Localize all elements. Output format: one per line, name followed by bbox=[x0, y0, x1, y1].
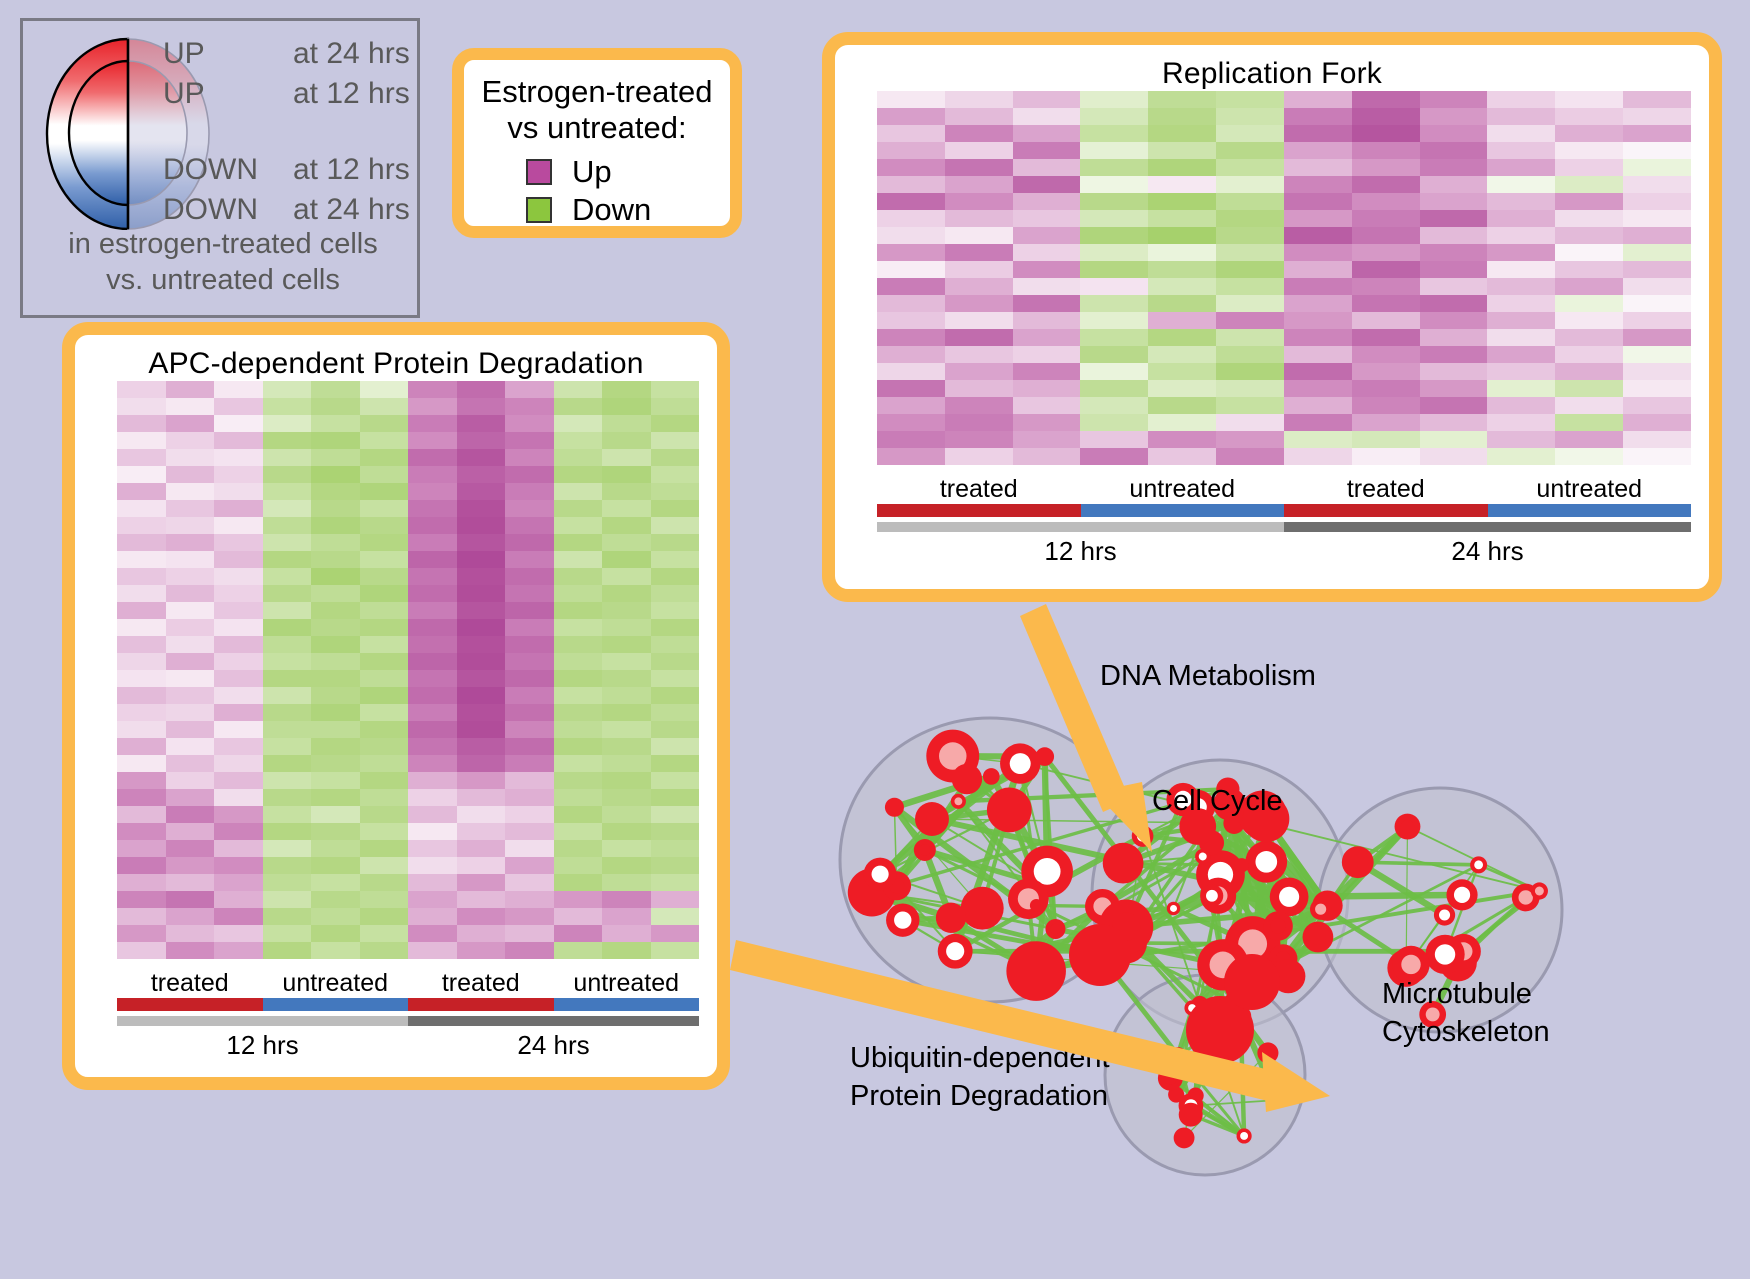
heatmap-cell bbox=[1352, 431, 1420, 448]
heatmap-cell bbox=[1216, 227, 1284, 244]
heatmap-cell bbox=[408, 772, 457, 789]
heatmap-cell bbox=[263, 670, 312, 687]
heatmap-cell bbox=[457, 942, 506, 959]
heatmap-cell bbox=[457, 704, 506, 721]
heatmap-cell bbox=[1216, 397, 1284, 414]
network-node[interactable] bbox=[1006, 941, 1066, 1001]
heatmap-cell bbox=[1013, 363, 1081, 380]
heatmap-cell bbox=[1623, 142, 1691, 159]
network-node-core[interactable] bbox=[1435, 944, 1455, 964]
network-node[interactable] bbox=[1224, 954, 1280, 1010]
heatmap-cell bbox=[1216, 193, 1284, 210]
heatmap-cell bbox=[1284, 295, 1352, 312]
network-node-core[interactable] bbox=[1206, 890, 1218, 902]
heatmap-cell bbox=[1555, 159, 1623, 176]
heatmap-cell bbox=[877, 108, 945, 125]
heatmap-cell bbox=[311, 806, 360, 823]
heatmap-cell bbox=[651, 738, 700, 755]
ring-row-up-24: UP at 24 hrs bbox=[163, 37, 410, 77]
heatmap-cell bbox=[1623, 312, 1691, 329]
heatmap-cell bbox=[263, 602, 312, 619]
heatmap-cell bbox=[1487, 261, 1555, 278]
heatmap-cell bbox=[554, 415, 603, 432]
heatmap-cell bbox=[945, 193, 1013, 210]
heatmap-cell bbox=[1420, 244, 1488, 261]
heatmap-cell bbox=[554, 432, 603, 449]
heatmap-cell bbox=[1352, 244, 1420, 261]
heatmap-cell bbox=[945, 261, 1013, 278]
heatmap-row bbox=[877, 261, 1691, 278]
heatmap-cell bbox=[166, 466, 215, 483]
heatmap-row bbox=[877, 125, 1691, 142]
heatmap-cell bbox=[877, 278, 945, 295]
network-node-core[interactable] bbox=[1137, 830, 1148, 841]
heatmap-cell bbox=[166, 721, 215, 738]
network-svg bbox=[800, 610, 1750, 1279]
heatmap-cell bbox=[408, 619, 457, 636]
heatmap-cell bbox=[1013, 108, 1081, 125]
heatmap-cell bbox=[1420, 108, 1488, 125]
heatmap-row bbox=[117, 551, 699, 568]
heatmap-cell bbox=[877, 397, 945, 414]
heatmap-cell bbox=[651, 789, 700, 806]
heatmap-cell bbox=[360, 449, 409, 466]
heatmap-row bbox=[117, 721, 699, 738]
heatmap-cell bbox=[1623, 261, 1691, 278]
heatmap-cell bbox=[554, 466, 603, 483]
heatmap-cell bbox=[505, 398, 554, 415]
network-node-core[interactable] bbox=[946, 942, 964, 960]
heatmap-cell bbox=[214, 500, 263, 517]
heatmap-cell bbox=[166, 738, 215, 755]
network-node-core[interactable] bbox=[1255, 851, 1277, 873]
heatmap-cell bbox=[311, 602, 360, 619]
heatmap-cell bbox=[602, 534, 651, 551]
heatmap-cell bbox=[1284, 397, 1352, 414]
heatmap-cell bbox=[1080, 125, 1148, 142]
network-node[interactable] bbox=[1174, 1127, 1195, 1148]
heatmap-cell bbox=[1080, 380, 1148, 397]
heatmap-cell bbox=[263, 738, 312, 755]
heatmap-cell bbox=[945, 278, 1013, 295]
heatmap-cell bbox=[554, 840, 603, 857]
network-node-core[interactable] bbox=[1164, 1072, 1177, 1085]
network-node[interactable] bbox=[961, 887, 1004, 930]
heatmap-cell bbox=[505, 806, 554, 823]
heatmap-cell bbox=[1555, 193, 1623, 210]
network-node[interactable] bbox=[983, 768, 1000, 785]
heatmap-cell bbox=[505, 500, 554, 517]
heatmap-row bbox=[877, 346, 1691, 363]
heatmap-cell bbox=[166, 840, 215, 857]
heatmap-cell bbox=[263, 466, 312, 483]
ring-footnote: in estrogen-treated cells vs. untreated … bbox=[23, 226, 423, 299]
heatmap-row bbox=[117, 398, 699, 415]
heatmap-cell bbox=[117, 891, 166, 908]
heatmap-cell bbox=[1080, 91, 1148, 108]
network-node[interactable] bbox=[1030, 899, 1043, 912]
heatmap-cell bbox=[263, 500, 312, 517]
network-node-core[interactable] bbox=[1273, 1096, 1281, 1104]
ring-row-down-12: DOWN at 12 hrs bbox=[163, 153, 410, 193]
heatmap-cell bbox=[1284, 108, 1352, 125]
heatmap-cell bbox=[1080, 210, 1148, 227]
heatmap-cell bbox=[457, 500, 506, 517]
heatmap-cell bbox=[554, 551, 603, 568]
heatmap-cell bbox=[651, 483, 700, 500]
heatmap-cell bbox=[214, 704, 263, 721]
heatmap-cell bbox=[505, 483, 554, 500]
network-node-core[interactable] bbox=[1401, 955, 1420, 974]
heatmap-cell bbox=[117, 534, 166, 551]
heatmap-cell bbox=[945, 108, 1013, 125]
heatmap-cell bbox=[602, 891, 651, 908]
heatmap-cell bbox=[1555, 312, 1623, 329]
heatmap-cell bbox=[1623, 176, 1691, 193]
network-node-core[interactable] bbox=[872, 866, 889, 883]
heatmap-cell bbox=[360, 432, 409, 449]
heatmap-cell bbox=[214, 857, 263, 874]
heatmap-cell bbox=[602, 874, 651, 891]
heatmap-cell bbox=[166, 534, 215, 551]
network-node[interactable] bbox=[885, 798, 904, 817]
heatmap-cell bbox=[1623, 244, 1691, 261]
heatmap-cell bbox=[408, 483, 457, 500]
cluster-label-protein-degradation: Protein Degradation bbox=[850, 1080, 1108, 1113]
heatmap-row bbox=[117, 415, 699, 432]
heatmap-cell bbox=[457, 670, 506, 687]
heatmap-cell bbox=[1148, 227, 1216, 244]
heatmap-cell bbox=[408, 789, 457, 806]
network-node-core[interactable] bbox=[1518, 890, 1532, 904]
heatmap-cell bbox=[1555, 278, 1623, 295]
axis-group-bar bbox=[1284, 504, 1488, 517]
heatmap-cell bbox=[117, 857, 166, 874]
heatmap-cell bbox=[505, 942, 554, 959]
axis-group-label: treated bbox=[1284, 475, 1488, 504]
heatmap-cell bbox=[554, 653, 603, 670]
network-node-core[interactable] bbox=[1535, 887, 1544, 896]
heatmap-cell bbox=[602, 483, 651, 500]
heatmap-cell bbox=[1148, 210, 1216, 227]
cluster-label-microtubule: Microtubule bbox=[1382, 978, 1532, 1011]
heatmap-row bbox=[117, 738, 699, 755]
axis-time-label: 12 hrs bbox=[117, 1030, 408, 1061]
heatmap-cell bbox=[214, 585, 263, 602]
network-node-core[interactable] bbox=[954, 797, 962, 805]
heatmap-row bbox=[117, 432, 699, 449]
heatmap-cell bbox=[166, 704, 215, 721]
heatmap-cell bbox=[1555, 176, 1623, 193]
network-node-core[interactable] bbox=[919, 844, 930, 855]
heatmap-cell bbox=[457, 789, 506, 806]
heatmap-cell bbox=[457, 449, 506, 466]
axis-time-bar bbox=[1284, 522, 1691, 532]
heatmap-cell bbox=[1013, 295, 1081, 312]
heatmap-cell bbox=[1352, 142, 1420, 159]
heatmap-cell bbox=[1487, 91, 1555, 108]
heatmap-cell bbox=[877, 448, 945, 465]
axis-time-label: 24 hrs bbox=[1284, 536, 1691, 567]
network-node[interactable] bbox=[952, 764, 982, 794]
heatmap-cell bbox=[360, 891, 409, 908]
heatmap-cell bbox=[457, 687, 506, 704]
heatmap-cell bbox=[166, 823, 215, 840]
heatmap-cell bbox=[311, 738, 360, 755]
heatmap-cell bbox=[1352, 448, 1420, 465]
heatmap-cell bbox=[214, 942, 263, 959]
legend-up-down: Estrogen-treated vs untreated: Up Down bbox=[452, 48, 742, 238]
heatmap-cell bbox=[166, 670, 215, 687]
heatmap-cell bbox=[360, 687, 409, 704]
heatmap-cell bbox=[1216, 414, 1284, 431]
heatmap-cell bbox=[651, 840, 700, 857]
heatmap-cell bbox=[1216, 91, 1284, 108]
heatmap-cell bbox=[877, 414, 945, 431]
heatmap-cell bbox=[1284, 431, 1352, 448]
heatmap-cell bbox=[1148, 295, 1216, 312]
heatmap-cell bbox=[457, 432, 506, 449]
heatmap-cell bbox=[117, 432, 166, 449]
network-node[interactable] bbox=[1103, 843, 1144, 884]
heatmap-cell bbox=[166, 755, 215, 772]
heatmap-cell bbox=[457, 636, 506, 653]
heatmap-row bbox=[877, 142, 1691, 159]
heatmap-cell bbox=[214, 636, 263, 653]
heatmap-cell bbox=[1216, 261, 1284, 278]
heatmap-cell bbox=[263, 704, 312, 721]
heatmap-cell bbox=[117, 466, 166, 483]
heatmap-cell bbox=[505, 738, 554, 755]
heatmap-row bbox=[877, 295, 1691, 312]
network-node-core[interactable] bbox=[1170, 905, 1177, 912]
heatmap-cell bbox=[1420, 295, 1488, 312]
network-node-core[interactable] bbox=[1315, 904, 1326, 915]
network-node-core[interactable] bbox=[1240, 1132, 1248, 1140]
network-node[interactable] bbox=[936, 903, 966, 933]
heatmap-cell bbox=[1555, 414, 1623, 431]
heatmap-cell bbox=[1555, 244, 1623, 261]
heatmap-cell bbox=[651, 534, 700, 551]
heatmap-row bbox=[877, 312, 1691, 329]
axis-group-label: untreated bbox=[263, 969, 409, 998]
network-node-core[interactable] bbox=[1010, 753, 1031, 774]
axis-group-bar bbox=[1081, 504, 1285, 517]
heatmap-cell bbox=[1352, 193, 1420, 210]
heatmap-cell bbox=[505, 925, 554, 942]
network-node-core[interactable] bbox=[1454, 887, 1470, 903]
heatmap-cell bbox=[166, 891, 215, 908]
network-node[interactable] bbox=[1035, 747, 1054, 766]
heatmap-cell bbox=[408, 398, 457, 415]
heatmap-cell bbox=[1080, 176, 1148, 193]
heatmap-cell bbox=[602, 500, 651, 517]
heatmap-row bbox=[117, 534, 699, 551]
heatmap-cell bbox=[651, 449, 700, 466]
heatmap-cell bbox=[263, 585, 312, 602]
heatmap-cell bbox=[214, 534, 263, 551]
heatmap-cell bbox=[1623, 91, 1691, 108]
heatmap-cell bbox=[505, 585, 554, 602]
heatmap-cell bbox=[1623, 329, 1691, 346]
heatmap-cell bbox=[877, 193, 945, 210]
network-node-core[interactable] bbox=[1194, 1058, 1205, 1069]
heatmap-cell bbox=[554, 925, 603, 942]
heatmap-cell bbox=[1148, 261, 1216, 278]
network-node-core[interactable] bbox=[1439, 909, 1450, 920]
network-node[interactable] bbox=[1069, 924, 1131, 986]
heatmap-cell bbox=[360, 483, 409, 500]
heatmap-cell bbox=[505, 857, 554, 874]
network-diagram: DNA Metabolism Cell Cycle Microtubule Cy… bbox=[800, 610, 1750, 1279]
heatmap-cell bbox=[1148, 244, 1216, 261]
heatmap-cell bbox=[1352, 414, 1420, 431]
network-node[interactable] bbox=[1257, 1042, 1278, 1063]
heatmap-cell bbox=[408, 857, 457, 874]
heatmap-cell bbox=[311, 670, 360, 687]
heatmap-cell bbox=[554, 670, 603, 687]
heatmap-cell bbox=[166, 789, 215, 806]
heatmap-cell bbox=[945, 176, 1013, 193]
heatmap-cell bbox=[1148, 363, 1216, 380]
heatmap-cell bbox=[360, 534, 409, 551]
heatmap-cell bbox=[1148, 380, 1216, 397]
network-node-core[interactable] bbox=[1279, 887, 1299, 907]
heatmap-row bbox=[877, 380, 1691, 397]
network-node[interactable] bbox=[915, 802, 949, 836]
network-node-core[interactable] bbox=[1310, 929, 1326, 945]
heatmap-cell bbox=[166, 857, 215, 874]
heatmap-cell bbox=[408, 721, 457, 738]
heatmap-cell bbox=[166, 806, 215, 823]
network-node[interactable] bbox=[1342, 846, 1374, 878]
heatmap-cell bbox=[1284, 159, 1352, 176]
heatmap-cell bbox=[311, 687, 360, 704]
heatmap-cell bbox=[1080, 431, 1148, 448]
heatmap-cell bbox=[1216, 278, 1284, 295]
heatmap-cell bbox=[1284, 278, 1352, 295]
network-node-core[interactable] bbox=[894, 911, 911, 928]
heatmap-row bbox=[117, 755, 699, 772]
network-node[interactable] bbox=[1170, 1047, 1186, 1063]
heatmap-row bbox=[877, 448, 1691, 465]
heatmap-cell bbox=[1148, 142, 1216, 159]
cluster-label-dna-metabolism: DNA Metabolism bbox=[1100, 660, 1316, 693]
network-node[interactable] bbox=[1234, 858, 1248, 872]
heatmap-cell bbox=[214, 602, 263, 619]
heatmap-cell bbox=[1352, 363, 1420, 380]
heatmap-cell bbox=[554, 772, 603, 789]
heatmap-row bbox=[877, 329, 1691, 346]
heatmap-cell bbox=[214, 449, 263, 466]
network-node-core[interactable] bbox=[1050, 924, 1060, 934]
heatmap-row bbox=[117, 806, 699, 823]
axis-group-label: treated bbox=[877, 475, 1081, 504]
heatmap-cell bbox=[166, 636, 215, 653]
heatmap-cell bbox=[263, 840, 312, 857]
heatmap-cell bbox=[311, 551, 360, 568]
heatmap-cell bbox=[945, 159, 1013, 176]
heatmap-cell bbox=[1148, 278, 1216, 295]
heatmap-cell bbox=[1013, 159, 1081, 176]
heatmap-cell bbox=[1623, 397, 1691, 414]
heatmap-cell bbox=[1284, 363, 1352, 380]
heatmap-cell bbox=[554, 857, 603, 874]
ring-row-up-12: UP at 12 hrs bbox=[163, 77, 410, 117]
heatmap-cell bbox=[1013, 125, 1081, 142]
heatmap-cell bbox=[1420, 414, 1488, 431]
heatmap-cell bbox=[263, 517, 312, 534]
heatmap-cell bbox=[1352, 278, 1420, 295]
heatmap-cell bbox=[1487, 108, 1555, 125]
heatmap-cell bbox=[602, 908, 651, 925]
heatmap-cell bbox=[360, 398, 409, 415]
heatmap-cell bbox=[651, 602, 700, 619]
heatmap-row bbox=[117, 483, 699, 500]
heatmap-cell bbox=[945, 295, 1013, 312]
heatmap-row bbox=[117, 619, 699, 636]
axis-group-bar bbox=[1488, 504, 1692, 517]
heatmap-cell bbox=[1216, 125, 1284, 142]
heatmap-cell bbox=[263, 925, 312, 942]
heatmap-cell bbox=[554, 517, 603, 534]
heatmap-cell bbox=[1487, 312, 1555, 329]
heatmap-cell bbox=[1623, 227, 1691, 244]
heatmap-cell bbox=[166, 551, 215, 568]
network-node[interactable] bbox=[987, 788, 1032, 833]
heatmap-cell bbox=[602, 585, 651, 602]
heatmap-cell bbox=[505, 432, 554, 449]
heatmap-cell bbox=[1080, 312, 1148, 329]
axis-group-bar bbox=[408, 998, 554, 1011]
heatmap-cell bbox=[877, 295, 945, 312]
heatmap-cell bbox=[505, 517, 554, 534]
heatmap-row bbox=[877, 91, 1691, 108]
axis-group-label: untreated bbox=[554, 969, 700, 998]
ring-time-up-12: at 12 hrs bbox=[293, 77, 410, 111]
heatmap-cell bbox=[214, 721, 263, 738]
heatmap-apc-time-bar bbox=[117, 1016, 699, 1026]
heatmap-cell bbox=[263, 415, 312, 432]
network-node-core[interactable] bbox=[1401, 820, 1414, 833]
heatmap-cell bbox=[505, 449, 554, 466]
axis-group-label: treated bbox=[408, 969, 554, 998]
heatmap-cell bbox=[554, 704, 603, 721]
heatmap-cell bbox=[311, 755, 360, 772]
heatmap-cell bbox=[1284, 448, 1352, 465]
heatmap-cell bbox=[1080, 193, 1148, 210]
heatmap-cell bbox=[1080, 363, 1148, 380]
heatmap-cell bbox=[602, 704, 651, 721]
heatmap-cell bbox=[214, 806, 263, 823]
heatmap-cell bbox=[263, 874, 312, 891]
heatmap-cell bbox=[1148, 448, 1216, 465]
legend-item-up-label: Up bbox=[572, 154, 612, 190]
network-node-core[interactable] bbox=[1474, 860, 1483, 869]
heatmap-cell bbox=[360, 789, 409, 806]
heatmap-cell bbox=[457, 772, 506, 789]
heatmap-cell bbox=[408, 381, 457, 398]
heatmap-cell bbox=[214, 551, 263, 568]
heatmap-cell bbox=[166, 619, 215, 636]
network-node[interactable] bbox=[1179, 1103, 1203, 1127]
heatmap-cell bbox=[877, 312, 945, 329]
heatmap-cell bbox=[263, 619, 312, 636]
legend-item-up: Up bbox=[526, 153, 730, 191]
heatmap-cell bbox=[1420, 278, 1488, 295]
heatmap-cell bbox=[1352, 346, 1420, 363]
network-node-core[interactable] bbox=[1270, 918, 1285, 933]
